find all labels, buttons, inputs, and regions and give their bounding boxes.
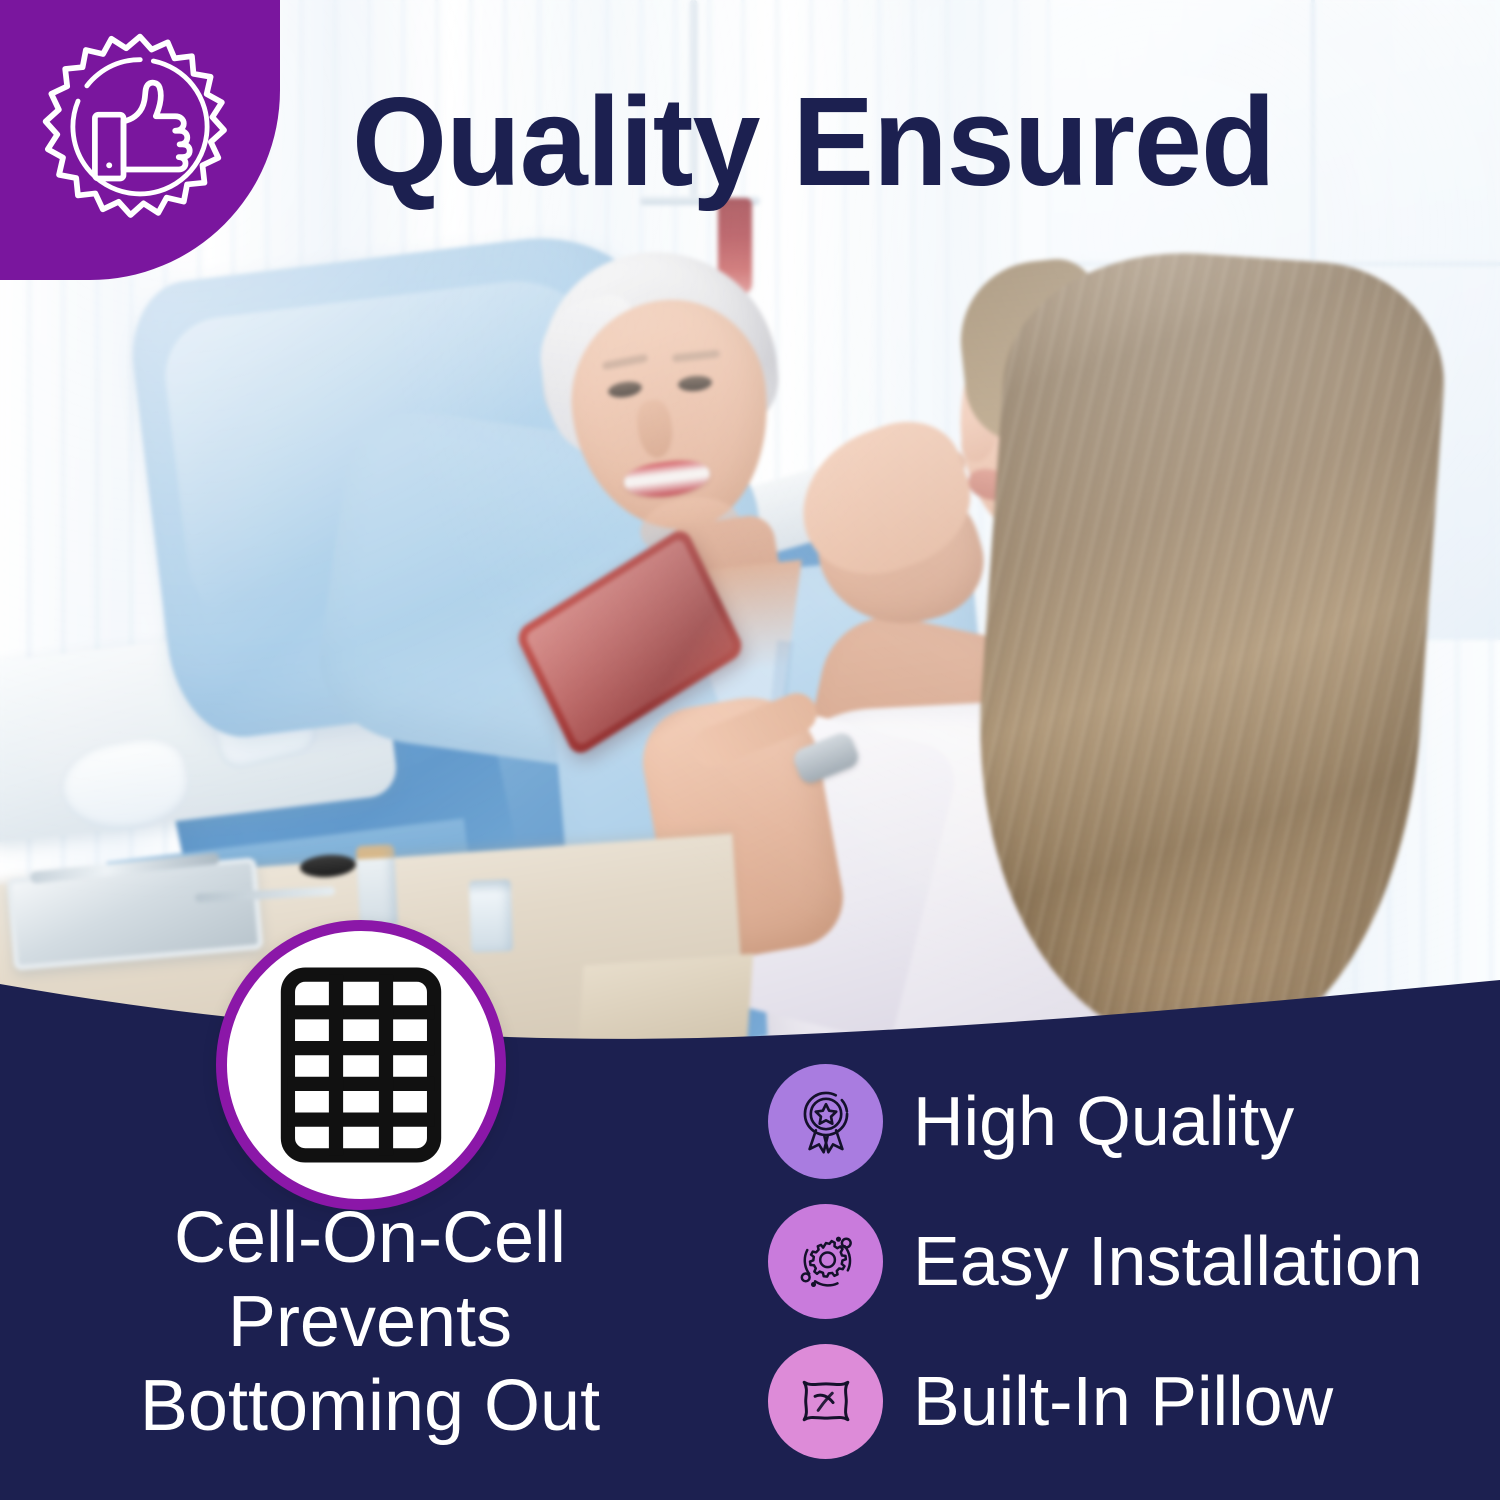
feature-label: Easy Installation xyxy=(913,1224,1423,1298)
infographic-canvas: Quality Ensured Cell-On-Cell Prevents Bo… xyxy=(0,0,1500,1500)
feature-label: High Quality xyxy=(913,1084,1294,1158)
quality-badge-panel xyxy=(0,0,280,280)
gear-cog-icon xyxy=(768,1204,883,1319)
thumbs-up-badge-icon xyxy=(0,0,280,280)
feature-item-easy-installation: Easy Installation xyxy=(768,1202,1468,1320)
feature-item-built-in-pillow: Built-In Pillow xyxy=(768,1342,1468,1460)
award-medal-icon xyxy=(768,1064,883,1179)
feature-label: Built-In Pillow xyxy=(913,1364,1333,1438)
feature-item-high-quality: High Quality xyxy=(768,1062,1468,1180)
cell-grid-icon xyxy=(216,920,506,1210)
caption-line-1: Cell-On-Cell xyxy=(40,1196,700,1280)
medicine-vial xyxy=(356,844,398,928)
caption-line-2: Prevents xyxy=(40,1280,700,1364)
feature-list: High Quality xyxy=(768,1062,1468,1460)
pillow-icon xyxy=(768,1344,883,1459)
page-title: Quality Ensured xyxy=(352,78,1438,208)
left-feature-caption: Cell-On-Cell Prevents Bottoming Out xyxy=(40,1196,700,1448)
medicine-vial xyxy=(469,879,513,952)
bedside-table-edge xyxy=(577,954,754,1060)
caption-line-3: Bottoming Out xyxy=(40,1364,700,1448)
